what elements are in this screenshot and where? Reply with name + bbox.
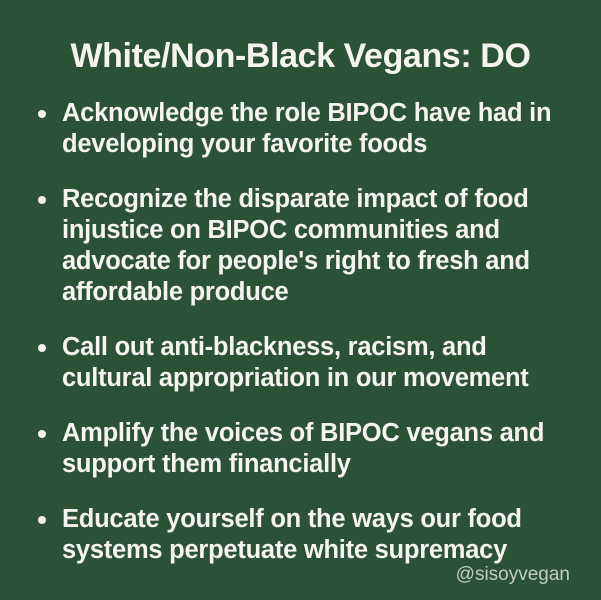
watermark-handle: @sisoyvegan	[456, 564, 570, 586]
bullet-dot-icon	[38, 344, 46, 352]
list-item-line: Call out anti-blackness, racism, and	[62, 332, 583, 363]
list-item-text: Amplify the voices of BIPOC vegans and s…	[62, 418, 583, 480]
list-item-text: Acknowledge the role BIPOC have had in d…	[62, 98, 583, 160]
list-item: Call out anti-blackness, racism, and cul…	[30, 332, 583, 394]
list-item-line: injustice on BIPOC communities and	[62, 215, 583, 246]
bullet-dot-icon	[38, 196, 46, 204]
bullet-dot-icon	[38, 430, 46, 438]
list-item-text: Recognize the disparate impact of food i…	[62, 184, 583, 308]
list-item: Amplify the voices of BIPOC vegans and s…	[30, 418, 583, 480]
page-title: White/Non-Black Vegans: DO	[0, 36, 601, 76]
list-item: Recognize the disparate impact of food i…	[30, 184, 583, 308]
do-list: Acknowledge the role BIPOC have had in d…	[30, 98, 583, 566]
bullet-dot-icon	[38, 516, 46, 524]
list-item-line: support them financially	[62, 449, 583, 480]
list-item-line: Acknowledge the role BIPOC have had in	[62, 98, 583, 129]
list-item-text: Educate yourself on the ways our food sy…	[62, 504, 583, 566]
list-item-line: Educate yourself on the ways our food	[62, 504, 583, 535]
poster-canvas: White/Non-Black Vegans: DO Acknowledge t…	[0, 0, 601, 600]
list-item-line: Recognize the disparate impact of food	[62, 184, 583, 215]
bullet-dot-icon	[38, 110, 46, 118]
list-item-text: Call out anti-blackness, racism, and cul…	[62, 332, 583, 394]
list-item-line: advocate for people's right to fresh and	[62, 246, 583, 277]
list-item-line: affordable produce	[62, 277, 583, 308]
list-item: Acknowledge the role BIPOC have had in d…	[30, 98, 583, 160]
list-item-line: cultural appropriation in our movement	[62, 363, 583, 394]
list-item-line: systems perpetuate white supremacy	[62, 535, 583, 566]
list-item-line: developing your favorite foods	[62, 129, 583, 160]
list-item: Educate yourself on the ways our food sy…	[30, 504, 583, 566]
list-item-line: Amplify the voices of BIPOC vegans and	[62, 418, 583, 449]
